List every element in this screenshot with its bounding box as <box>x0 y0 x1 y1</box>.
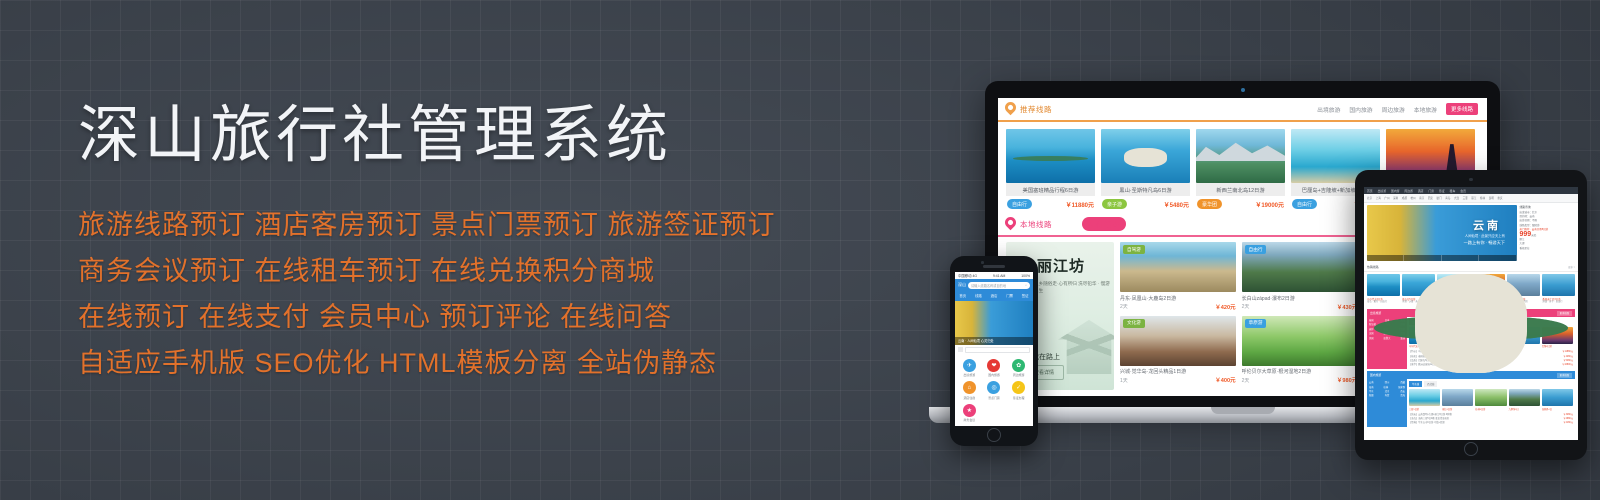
tablet-price-unit: 元起 <box>1531 234 1536 237</box>
tour-name: 三亚5日游 <box>1409 407 1440 411</box>
tour-price: ￥400元 <box>1215 376 1236 384</box>
laptop-card[interactable]: 新西兰南北岛12日游 豪华团 ￥19000元 <box>1196 129 1285 209</box>
local-card[interactable]: 自驾游 丹东·凤凰山·大鹿岛2日游 2天￥420元 <box>1120 242 1236 311</box>
phone-icon-label: 商务会议 <box>964 418 976 422</box>
phone-search-placeholder: 请输入线路名称或目的地 <box>971 283 1006 288</box>
tour-badge: 草原游 <box>1245 319 1267 328</box>
tablet-screen: 首页 出境游 国内游 周边游 酒店 门票 签证 租车 会员 北京 上海 广州 深… <box>1364 187 1578 440</box>
phone-camera-icon <box>981 261 984 264</box>
tablet-side-cell[interactable]: 加拿大 <box>1384 337 1391 341</box>
phone-icon-grid: ✈出境旅游 ❤国内旅游 ✿周边旅游 ⌂酒店住宿 ◎景点门票 ✓签证办理 ★商务会… <box>955 355 1033 427</box>
tablet-city-3[interactable]: 深圳 <box>1393 196 1398 200</box>
tablet-topbar-item-2[interactable]: 国内游 <box>1391 189 1399 193</box>
tour-price: ￥19000元 <box>1255 200 1284 209</box>
tablet-city-6[interactable]: 南京 <box>1419 196 1424 200</box>
laptop-card[interactable]: 美国塞班精品行程6日游 自由行 ￥11880元 <box>1006 129 1095 209</box>
tablet-hero-thumb-strip[interactable] <box>1367 255 1518 261</box>
star-icon: ★ <box>963 404 976 417</box>
tour-name: 丹东·凤凰山·大鹿岛2日游 <box>1120 295 1236 302</box>
page-title: 深山旅行社管理系统 <box>78 96 958 176</box>
tablet-city-10[interactable]: 大连 <box>1454 196 1459 200</box>
feature-line-1: 旅游线路预订 酒店客房预订 景点门票预订 旅游签证预订 <box>78 202 958 248</box>
tablet-panel-more[interactable]: 更多线路 <box>1557 373 1572 378</box>
phone-status-bar: 中国移动 4G 9:41 AM 100% <box>955 272 1033 279</box>
tablet-side-row: 新疆内蒙青海 <box>1369 394 1405 398</box>
phone-filter-row[interactable] <box>955 345 1033 355</box>
tour-desc: 海岛 · 蜜月 · 自由行 <box>1367 301 1400 304</box>
heart-icon: ❤ <box>987 359 1000 372</box>
tablet-city-14[interactable]: 昆明 <box>1489 196 1494 200</box>
tablet-hot-more[interactable]: 更多 > <box>1568 265 1575 269</box>
tablet-hot-section-bar: 热销线路 更多 > <box>1364 264 1578 272</box>
tablet-side-row: 美国加拿大澳洲 <box>1369 337 1405 341</box>
tablet-hero-banner[interactable]: 云南 人间仙境 · 此景只应天上有 一路上有你 · 畅游天下 <box>1367 205 1518 261</box>
tablet-panel-more[interactable]: 更多线路 <box>1557 311 1572 316</box>
phone-filter-box[interactable] <box>965 347 1030 353</box>
laptop-section1-header: 推荐线路 出境旅游 国内旅游 周边旅游 本地旅游 更多线路 <box>998 98 1487 122</box>
tablet-city-12[interactable]: 丽江 <box>1471 196 1476 200</box>
tour-days: 2天 <box>1242 303 1250 310</box>
check-icon: ✓ <box>1012 381 1025 394</box>
tour-photo: 自驾游 <box>1120 242 1236 292</box>
tablet-city-7[interactable]: 西安 <box>1428 196 1433 200</box>
tablet-panel-main: 华东线 西北线 三亚5日游 丽江6日游 桂林4日游 九寨沟5日 张家界4日 <box>1407 379 1575 427</box>
tour-badge: 文化游 <box>1123 319 1145 328</box>
tour-photo: 自由行 <box>1242 242 1358 292</box>
tablet-card[interactable]: 丽江6日游 <box>1442 389 1473 411</box>
tour-price: ￥5480元 <box>1164 200 1189 209</box>
tour-photo <box>1509 389 1540 406</box>
tour-name: 桂林4日游 <box>1475 407 1506 411</box>
tour-badge: 自驾游 <box>1123 245 1145 254</box>
tablet-topbar-item-6[interactable]: 签证 <box>1439 189 1445 193</box>
house-icon: ⌂ <box>963 381 976 394</box>
tablet-panel-tabs[interactable]: 华东线 西北线 <box>1409 381 1573 387</box>
tablet-panel-body: 泰国日本韩国 新加坡马来越南 迪拜埃及土耳其 法国意大利德国 美国加拿大澳洲 海… <box>1367 317 1575 369</box>
phone-nav-item-3[interactable]: 门票 <box>1006 293 1013 298</box>
phone-screen: 中国移动 4G 9:41 AM 100% 深山 请输入线路名称或目的地 ⌕ 首页… <box>955 272 1033 426</box>
phone-battery: 100% <box>1021 274 1030 278</box>
tour-tag: 自由行 <box>1007 199 1032 209</box>
tour-days: 2天 <box>1242 377 1250 384</box>
laptop-notch <box>1211 407 1275 414</box>
tablet-card[interactable]: 三亚5日游 <box>1409 389 1440 411</box>
tablet-hero-area: 云南 人间仙境 · 此景只应天上有 一路上有你 · 畅游天下 线路查询 出发城市… <box>1364 203 1578 264</box>
phone-icon-item[interactable]: ✈出境旅游 <box>957 359 982 378</box>
tablet-city-5[interactable]: 杭州 <box>1410 196 1415 200</box>
search-icon[interactable]: ⌕ <box>1025 283 1027 287</box>
laptop-section1-title: 推荐线路 <box>1005 102 1052 116</box>
flower-icon: ✿ <box>1012 359 1025 372</box>
tablet-topbar-item-3[interactable]: 周边游 <box>1404 189 1412 193</box>
tablet-hero-title: 云南 <box>1473 217 1501 233</box>
tour-caption: 黑山·圣斯特凡岛6日游 <box>1101 183 1190 196</box>
promo-subtitle: 入乡随俗走·心有所归 洗尽铅华 · 慢游人生 <box>1034 280 1114 294</box>
phone-time: 9:41 AM <box>993 274 1005 278</box>
tablet-query-panel: 线路查询 出发城市：北京 目的地：云南 出游日期：不限 线路类型：跟团游 热门推… <box>1520 205 1576 261</box>
laptop-section2-title: 本地线路 特价线路 <box>1005 217 1126 231</box>
feature-line-4: 自适应手机版 SEO优化 HTML模板分离 全站伪静态 <box>78 340 958 386</box>
tablet-outbound-panel: 出境旅游 更多线路 泰国日本韩国 新加坡马来越南 迪拜埃及土耳其 法国意大利德国… <box>1367 309 1575 369</box>
tour-photo <box>1442 389 1473 406</box>
tablet-line-price: ￥2180元 <box>1563 421 1573 425</box>
feature-line-3: 在线预订 在线支付 会员中心 预订评论 在线问答 <box>78 294 958 340</box>
tablet-card[interactable]: 张家界4日 <box>1542 389 1573 411</box>
tour-tag: 亲子游 <box>1102 199 1127 209</box>
tour-photo <box>1542 389 1573 406</box>
tour-photo <box>1367 274 1400 296</box>
phone-search-bar: 深山 请输入线路名称或目的地 ⌕ <box>955 279 1033 291</box>
tour-name: 巴黎8日游 <box>1542 344 1573 348</box>
phone-icon-label: 出境旅游 <box>964 373 976 377</box>
tablet-topbar[interactable]: 首页 出境游 国内游 周边游 酒店 门票 签证 租车 会员 <box>1364 187 1578 194</box>
tablet-card[interactable]: 普吉岛5日 <box>1442 327 1473 349</box>
phone-icon-item[interactable]: ★商务会议 <box>957 404 982 423</box>
laptop-nav-item-3[interactable]: 本地旅游 <box>1414 105 1437 114</box>
banner-text-block: 深山旅行社管理系统 旅游线路预订 酒店客房预订 景点门票预订 旅游签证预订 商务… <box>78 96 958 386</box>
phone-speaker <box>983 265 1005 268</box>
phone-icon-item[interactable]: ◎景点门票 <box>982 381 1007 400</box>
tour-footer: 豪华团 ￥19000元 <box>1196 196 1285 209</box>
tablet-city-1[interactable]: 上海 <box>1376 196 1381 200</box>
tour-photo: 文化游 <box>1120 316 1236 366</box>
tour-desc: 港澳 · 亲子 · 自由行 <box>1542 301 1575 304</box>
tablet-topbar-item-8[interactable]: 会员 <box>1460 189 1466 193</box>
tour-badge: 自由行 <box>1245 245 1267 254</box>
phone-nav-item-1[interactable]: 线路 <box>975 293 982 298</box>
local-card[interactable]: 草原游 呼伦贝尔大草原·根河湿地2日游 2天￥980元 <box>1242 316 1358 385</box>
tablet-side-cell[interactable]: 青海 <box>1400 394 1405 398</box>
laptop-nav-item-1[interactable]: 国内旅游 <box>1349 105 1372 114</box>
tablet-city-15[interactable]: 重庆 <box>1497 196 1502 200</box>
tour-price: ￥420元 <box>1215 303 1236 311</box>
laptop-section2-label: 本地线路 <box>1020 219 1052 230</box>
phone-search-input[interactable]: 请输入线路名称或目的地 ⌕ <box>968 282 1030 289</box>
tablet-domestic-panel: 国内旅游 更多线路 云南四川西藏 海南桂林张家界 华东北京西安 新疆内蒙青海 华 <box>1367 371 1575 427</box>
tour-photo <box>1542 274 1575 296</box>
location-pin-icon <box>1005 102 1016 116</box>
phone-icon-item[interactable]: ✿周边旅游 <box>1006 359 1031 378</box>
laptop-nav-item-0[interactable]: 出境旅游 <box>1317 105 1340 114</box>
tablet-tab-0[interactable]: 华东线 <box>1409 381 1422 387</box>
tour-meta: 2天￥430元 <box>1242 303 1358 311</box>
local-card[interactable]: 文化游 兴城·觉华岛·龙回头精品1日游 1天￥400元 <box>1120 316 1236 385</box>
tablet-panel-cards: 三亚5日游 丽江6日游 桂林4日游 九寨沟5日 张家界4日 <box>1409 389 1573 411</box>
promo-main: 丽江坊 <box>1037 258 1085 275</box>
tour-meta: 1天￥400元 <box>1120 376 1236 384</box>
phone-logo: 深山 <box>958 282 966 288</box>
tablet-line-row: 【经典】华东五市6日游·乌镇+西湖￥2180元 <box>1409 421 1573 425</box>
tour-tag: 豪华团 <box>1197 199 1222 209</box>
tour-photo <box>1475 389 1506 406</box>
phone-icon-label: 国内旅游 <box>988 373 1000 377</box>
phone-icon-label: 景点门票 <box>988 396 1000 400</box>
laptop-section2-badge: 特价线路 <box>1082 217 1126 231</box>
tablet-topbar-item-7[interactable]: 租车 <box>1450 189 1456 193</box>
tablet-panel-title: 国内旅游 <box>1370 373 1381 377</box>
tour-meta: 2天￥420元 <box>1120 303 1236 311</box>
tablet-panel-lines: 【纯玩】云南昆明+大理+丽江8日游·0购物￥3280元 【海岛】海南三亚5日4晚… <box>1409 413 1573 426</box>
tour-name: 长白山západ·瀑布2日游 <box>1242 295 1358 302</box>
tour-price: ￥11880元 <box>1066 200 1094 209</box>
tablet-city-11[interactable]: 三亚 <box>1463 196 1468 200</box>
laptop-camera-icon <box>1241 88 1245 92</box>
tablet-topbar-item-1[interactable]: 出境游 <box>1378 189 1386 193</box>
local-card[interactable]: 自由行 长白山západ·瀑布2日游 2天￥430元 <box>1242 242 1358 311</box>
phone-hero-caption: 云南 · 人间仙境 心灵归处 <box>955 337 1033 345</box>
tablet-tag-2[interactable]: 香格里拉 <box>1520 247 1576 251</box>
feature-list: 旅游线路预订 酒店客房预订 景点门票预订 旅游签证预订 商务会议预订 在线租车预… <box>78 202 958 386</box>
tablet-camera-icon <box>1469 178 1473 182</box>
tablet-topbar-item-5[interactable]: 门票 <box>1428 189 1434 193</box>
laptop-more-routes-button[interactable]: 更多线路 <box>1446 103 1478 115</box>
tablet-city-9[interactable]: 青岛 <box>1445 196 1450 200</box>
tour-days: 1天 <box>1120 377 1128 384</box>
tablet-hero-line2: 一路上有你 · 畅游天下 <box>1464 240 1505 246</box>
tablet-card[interactable]: 桂林4日游 <box>1475 389 1506 411</box>
phone-icon-item[interactable]: ✓签证办理 <box>1006 381 1031 400</box>
phone-home-button[interactable] <box>987 428 1001 442</box>
tablet-panel-body: 云南四川西藏 海南桂林张家界 华东北京西安 新疆内蒙青海 华东线 西北线 三亚 <box>1367 379 1575 427</box>
tablet-home-button[interactable] <box>1464 442 1478 456</box>
phone-filter-icon <box>958 347 963 352</box>
tour-name: 张家界4日 <box>1542 407 1573 411</box>
tablet-side-cell[interactable]: 美国 <box>1369 337 1374 341</box>
phone-icon-item[interactable]: ❤国内旅游 <box>982 359 1007 378</box>
tour-name: 九寨沟5日 <box>1509 407 1540 411</box>
phone-nav[interactable]: 首页 线路 酒店 门票 签证 <box>955 291 1033 301</box>
phone-nav-item-4[interactable]: 签证 <box>1022 293 1029 298</box>
tour-name: 兴城·觉华岛·龙回头精品1日游 <box>1120 368 1236 375</box>
tablet-panel-main: 海岛游 欧洲游 马尔代夫6日 普吉岛5日 巴厘岛6日 塞班岛7日 巴黎8日游 <box>1407 317 1575 369</box>
device-mockups: 推荐线路 出境旅游 国内旅游 周边旅游 本地旅游 更多线路 <box>900 60 1600 500</box>
tablet-city-8[interactable]: 厦门 <box>1437 196 1442 200</box>
tablet-price: 999 <box>1520 231 1532 238</box>
tour-caption: 新西兰南北岛12日游 <box>1196 183 1285 196</box>
location-pin-icon <box>1005 217 1016 231</box>
laptop-section1-nav[interactable]: 出境旅游 国内旅游 周边旅游 本地旅游 更多线路 <box>1317 103 1478 115</box>
phone-hero-banner[interactable]: 云南 · 人间仙境 心灵归处 <box>955 301 1033 345</box>
tablet-panel-cards: 马尔代夫6日 普吉岛5日 巴厘岛6日 塞班岛7日 巴黎8日游 <box>1409 327 1573 349</box>
tablet-city-4[interactable]: 成都 <box>1402 196 1407 200</box>
tablet-side-cell[interactable]: 内蒙 <box>1385 394 1390 398</box>
feature-line-2: 商务会议预订 在线租车预订 在线兑换积分商城 <box>78 248 958 294</box>
tablet-city-2[interactable]: 广州 <box>1384 196 1389 200</box>
tour-photo <box>1006 129 1095 183</box>
tour-photo <box>1442 327 1473 344</box>
tablet-mockup: 首页 出境游 国内游 周边游 酒店 门票 签证 租车 会员 北京 上海 广州 深… <box>1355 170 1587 460</box>
tour-caption: 美国塞班精品行程6日游 <box>1006 183 1095 196</box>
laptop-section1-label: 推荐线路 <box>1020 104 1052 115</box>
tablet-card[interactable]: 九寨沟5日 <box>1509 389 1540 411</box>
plane-icon: ✈ <box>963 359 976 372</box>
tablet-panel-side[interactable]: 云南四川西藏 海南桂林张家界 华东北京西安 新疆内蒙青海 <box>1367 379 1407 427</box>
phone-icon-label: 酒店住宿 <box>964 396 976 400</box>
tablet-hot-title: 热销线路 <box>1367 265 1379 269</box>
phone-icon-label: 签证办理 <box>1013 396 1025 400</box>
tour-photo <box>1196 129 1285 183</box>
phone-nav-item-0[interactable]: 首页 <box>959 293 966 298</box>
tour-tag: 自由行 <box>1292 199 1317 209</box>
tablet-line-text[interactable]: 【经典】华东五市6日游·乌镇+西湖 <box>1409 421 1445 425</box>
tour-footer: 自由行 ￥11880元 <box>1006 196 1095 209</box>
pagoda-illustration <box>1058 316 1114 374</box>
tablet-topbar-item-4[interactable]: 酒店 <box>1418 189 1424 193</box>
phone-mockup: 中国移动 4G 9:41 AM 100% 深山 请输入线路名称或目的地 ⌕ 首页… <box>950 256 1038 446</box>
promo-banner: 深山旅行社管理系统 旅游线路预订 酒店客房预订 景点门票预订 旅游签证预订 商务… <box>0 0 1600 500</box>
tablet-hero-line1: 人间仙境 · 此景只应天上有 <box>1465 233 1505 238</box>
tablet-line-price: ￥16800元 <box>1562 363 1573 367</box>
phone-carrier: 中国移动 4G <box>958 273 977 278</box>
laptop-nav-item-2[interactable]: 周边旅游 <box>1382 105 1405 114</box>
tablet-thumb[interactable]: 香港迪士尼3日游港澳 · 亲子 · 自由行 <box>1542 274 1575 304</box>
tablet-city-13[interactable]: 桂林 <box>1480 196 1485 200</box>
tablet-city-nav[interactable]: 北京 上海 广州 深圳 成都 杭州 南京 西安 厦门 青岛 大连 三亚 丽江 桂… <box>1364 194 1578 203</box>
ticket-icon: ◎ <box>987 381 1000 394</box>
tour-meta: 2天￥980元 <box>1242 376 1358 384</box>
tour-name: 呼伦贝尔大草原·根河湿地2日游 <box>1242 368 1358 375</box>
phone-nav-item-2[interactable]: 酒店 <box>991 293 998 298</box>
phone-icon-label: 周边旅游 <box>1013 373 1025 377</box>
tour-photo <box>1101 129 1190 183</box>
tour-footer: 亲子游 ￥5480元 <box>1101 196 1190 209</box>
tablet-query-title: 线路查询 <box>1520 205 1576 209</box>
tablet-panel-title: 出境旅游 <box>1370 311 1381 315</box>
tour-photo <box>1409 389 1440 406</box>
tablet-topbar-item-0[interactable]: 首页 <box>1367 189 1373 193</box>
tablet-city-0[interactable]: 北京 <box>1367 196 1372 200</box>
phone-icon-item[interactable]: ⌂酒店住宿 <box>957 381 982 400</box>
tour-name: 丽江6日游 <box>1442 407 1473 411</box>
tablet-side-cell[interactable]: 新疆 <box>1369 394 1374 398</box>
tour-days: 2天 <box>1120 303 1128 310</box>
tablet-thumb[interactable]: 马尔代夫6日游海岛 · 蜜月 · 自由行 <box>1367 274 1400 304</box>
tour-photo: 草原游 <box>1242 316 1358 366</box>
laptop-card[interactable]: 黑山·圣斯特凡岛6日游 亲子游 ￥5480元 <box>1101 129 1190 209</box>
tablet-tab-1[interactable]: 西北线 <box>1424 381 1437 387</box>
